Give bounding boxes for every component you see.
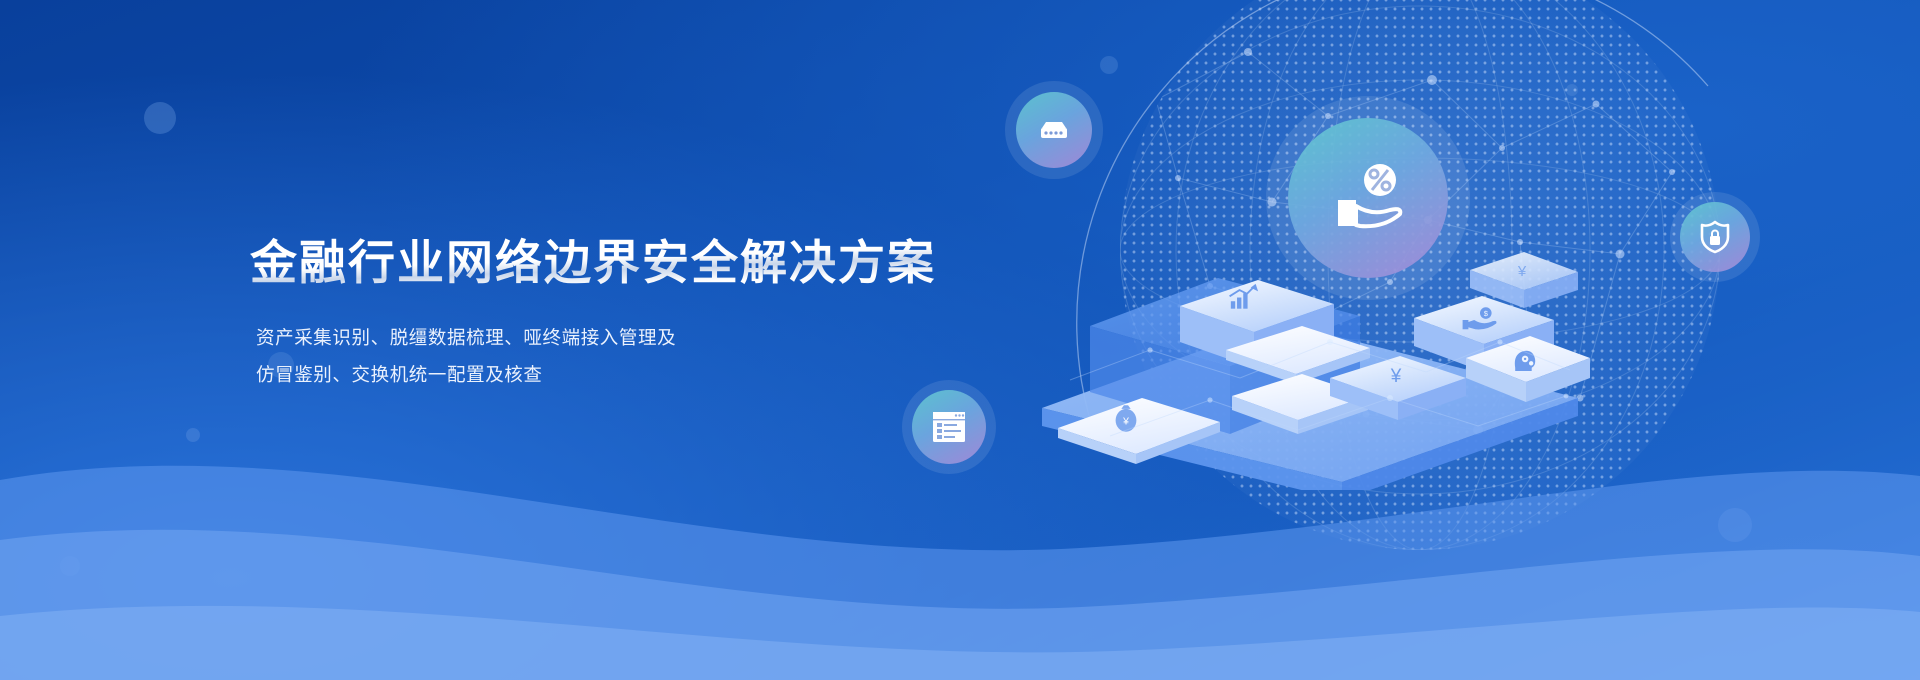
yuan-symbol-icon: ¥ <box>1517 263 1527 280</box>
page-title: 金融行业网络边界安全解决方案 <box>250 235 1010 290</box>
banner-copy: 金融行业网络边界安全解决方案 资产采集识别、脱缰数据梳理、哑终端接入管理及 仿冒… <box>250 235 1010 393</box>
subtitle-line-1: 资产采集识别、脱缰数据梳理、哑终端接入管理及 <box>256 320 1010 356</box>
hero-banner: ¥ <box>0 0 1920 680</box>
shield-lock-icon <box>1680 202 1750 272</box>
hand-percent-icon <box>1288 118 1448 278</box>
network-switch-icon <box>1016 92 1092 168</box>
banner-subtitle: 资产采集识别、脱缰数据梳理、哑终端接入管理及 仿冒鉴别、交换机统一配置及核查 <box>256 320 1010 392</box>
subtitle-line-2: 仿冒鉴别、交换机统一配置及核查 <box>256 357 1010 393</box>
decor-dot <box>144 102 176 134</box>
